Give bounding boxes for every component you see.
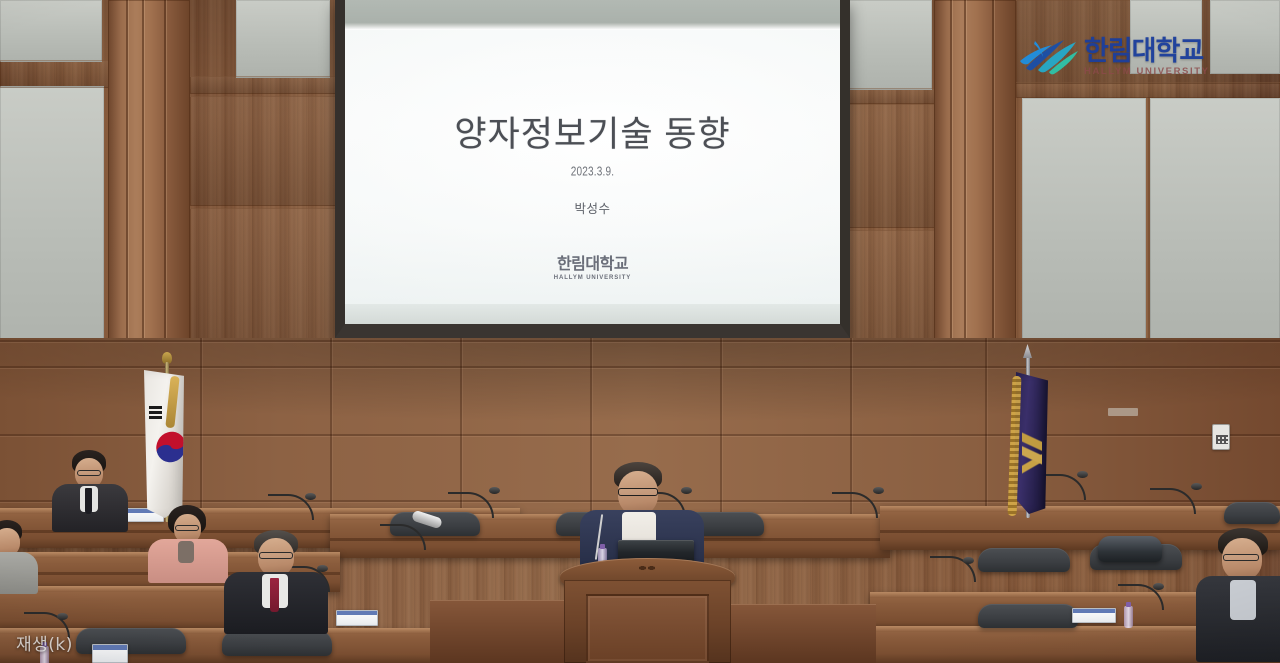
projection-screen: 양자정보기술 동향 2023.3.9. 박성수 한림대학교 HALLYM UNI… [335,0,850,338]
microphone-left-back [268,496,312,520]
water-bottle-front-right [1124,606,1133,628]
nameplate-front-right [1072,608,1116,623]
microphone-right-edge [930,560,970,582]
lectern-body [564,580,731,663]
person-tie [270,578,279,612]
taeguk-symbol [153,428,189,466]
audience-person-left-front [218,530,338,635]
microphone-podium-area [380,520,432,550]
audience-person-right-front [1196,528,1280,663]
wall-panel-upper-right-a [840,0,932,90]
play-pause-tooltip[interactable]: 재생(k) [16,630,73,655]
slide-presenter-name: 박성수 [574,198,610,217]
wall-pilaster-left [108,0,190,356]
audience-person-left-back [36,450,146,528]
slide-title: 양자정보기술 동향 [454,106,730,157]
watermark-name-korean: 한림대학교 [1084,38,1210,65]
university-flag-emblem [1022,420,1042,486]
audience-person-left-edge [0,520,46,590]
person-inner-top [178,541,194,563]
lectern-carving [638,564,656,572]
lectern [560,558,735,663]
slide-logo-english: HALLYM UNIVERSITY [554,275,631,281]
wall-panel-right-wood-a [840,104,936,228]
wall-panel-upper-left-a [0,0,102,62]
front-desk-apron [430,600,570,663]
microphone-center-3 [832,490,880,518]
wall-panel-upper-left-b [0,86,104,354]
wall-panel-far-right-top-b [1210,0,1280,74]
person-shirt [1230,580,1256,620]
wall-frame-left-a [0,60,110,88]
glasses-icon [77,470,101,476]
wall-panel-far-right-big-a [1022,98,1146,348]
slide-university-logo: 한림대학교 HALLYM UNIVERSITY [554,257,631,281]
hallym-wave-logo-icon [1018,35,1080,79]
wall-control-panel-icon [1212,424,1230,450]
wall-frame-right-a [840,88,936,104]
taegukgi-cloth [144,370,184,518]
front-desk-apron-right [726,604,876,663]
person-torso [0,552,38,594]
watermark-text: 한림대학교 HALLYM UNIVERSITY [1084,38,1210,77]
backpack-on-desk [1098,536,1162,562]
watermark-name-english: HALLYM UNIVERSITY [1084,67,1210,77]
slide-logo-korean: 한림대학교 [554,257,631,273]
chair-right-1 [978,548,1070,572]
microphone-center-4 [1150,486,1198,514]
lectern-panel [586,594,709,663]
nameplate-front-left [92,644,128,663]
university-flag [1004,350,1056,522]
nameplate-left-front [336,610,378,626]
glasses-icon [618,488,658,496]
wall-pilaster-right [934,0,1016,356]
glasses-icon [1223,554,1259,561]
hallym-university-watermark: 한림대학교 HALLYM UNIVERSITY [1018,26,1218,88]
flag-tassel-left [165,376,179,429]
microphone-center-1 [448,490,496,518]
wall-frame-mid-left-a [190,76,336,94]
wall-panel-mid-left-wood [190,96,336,206]
wall-panel-mid-left-wood-2 [190,208,336,356]
chair-front-right-a [978,604,1078,628]
slide-date: 2023.3.9. [571,166,615,180]
person-tie [85,488,92,514]
glasses-icon [175,525,199,531]
wall-panel-upper-mid-left [236,0,330,78]
wall-panel-far-right-big-b [1150,98,1280,348]
wall-label-plate [1108,408,1138,416]
glasses-icon [259,552,293,559]
presentation-slide: 양자정보기술 동향 2023.3.9. 박성수 한림대학교 HALLYM UNI… [345,30,840,304]
chair-right-3 [1224,502,1280,524]
video-frame: 양자정보기술 동향 2023.3.9. 박성수 한림대학교 HALLYM UNI… [0,0,1280,663]
